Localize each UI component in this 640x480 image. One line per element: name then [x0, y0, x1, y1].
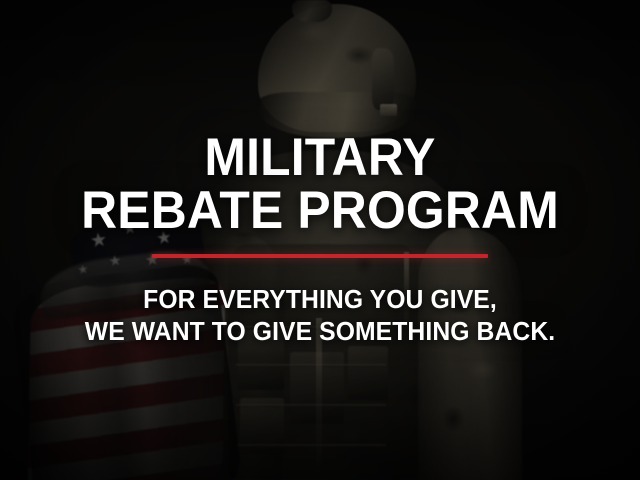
- flag-star-icon: ★: [89, 230, 108, 251]
- flag-star-icon: ★: [122, 221, 137, 238]
- vest-webbing: [236, 404, 386, 407]
- shoulder-strap-highlight: [404, 252, 409, 348]
- background-photo: ★ ★ ★ ★ ★ ★ ★: [0, 0, 640, 480]
- vest-pouch: [238, 330, 284, 390]
- military-rebate-poster: ★ ★ ★ ★ ★ ★ ★ MILITARY REBATE PROGRAM FO…: [0, 0, 640, 480]
- vest-strap-highlight: [316, 318, 322, 480]
- helmet-patch: [380, 104, 397, 116]
- vest-webbing: [236, 444, 386, 447]
- american-flag: ★ ★ ★ ★ ★ ★ ★: [0, 210, 239, 480]
- vest-webbing: [236, 364, 386, 367]
- vest-webbing: [236, 326, 386, 329]
- soldier-right-arm: [418, 228, 522, 480]
- flag-star-icon: ★: [155, 228, 172, 247]
- vest-pouch: [348, 346, 388, 400]
- nvg-mount-icon: [292, 0, 332, 22]
- flag-fabric-folds: [9, 261, 243, 480]
- helmet-side-rail: [372, 48, 394, 110]
